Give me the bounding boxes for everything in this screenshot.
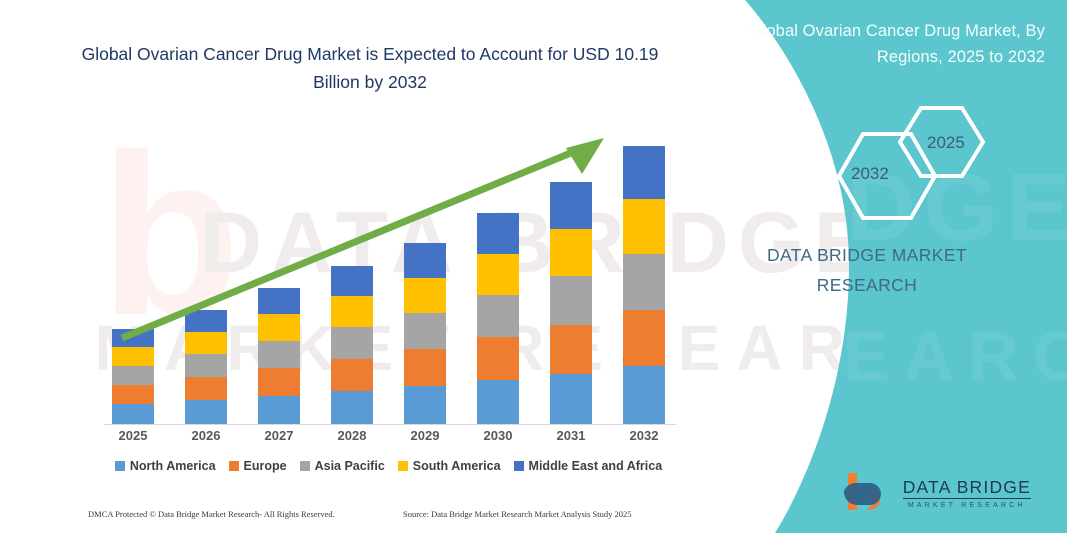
x-axis-label-2030: 2030 [468,428,528,443]
brand-line-2: RESEARCH [667,270,1067,300]
logo-subtitle: MARKET RESEARCH [903,502,1031,509]
legend-label: South America [413,459,501,473]
panel-title: Global Ovarian Cancer Drug Market, By Re… [715,18,1045,70]
legend-item-europe[interactable]: Europe [229,459,287,473]
brand-name: DATA BRIDGE MARKET RESEARCH [667,240,1067,300]
x-axis-label-2032: 2032 [614,428,674,443]
legend-item-south-america[interactable]: South America [398,459,501,473]
legend-item-middle-east-and-africa[interactable]: Middle East and Africa [514,459,663,473]
legend-swatch-icon [115,461,125,471]
logo-mark-icon [842,471,894,517]
hexagon-2025-label: 2025 [927,133,965,153]
company-logo: DATA BRIDGE MARKET RESEARCH [842,471,1031,517]
hexagon-icons [821,104,1001,224]
logo-title: DATA BRIDGE [903,479,1031,500]
legend-item-north-america[interactable]: North America [115,459,216,473]
x-axis-label-2025: 2025 [103,428,163,443]
hexagon-2032-label: 2032 [851,164,889,184]
svg-text:RESEARCH: RESEARCH [667,317,1067,395]
x-axis-label-2028: 2028 [322,428,382,443]
x-axis-label-2029: 2029 [395,428,455,443]
footer-copyright: DMCA Protected © Data Bridge Market Rese… [88,509,335,519]
logo-text: DATA BRIDGE MARKET RESEARCH [903,479,1031,510]
legend-swatch-icon [514,461,524,471]
x-axis-labels: 20252026202720282029203020312032 [96,428,681,448]
hexagon-group: 2025 2032 [821,104,1001,224]
bar-chart [96,120,681,425]
legend-label: Europe [244,459,287,473]
bridge-b-icon [842,471,894,517]
x-axis-label-2031: 2031 [541,428,601,443]
footer: DMCA Protected © Data Bridge Market Rese… [0,509,700,529]
legend-swatch-icon [229,461,239,471]
legend-swatch-icon [300,461,310,471]
chart-legend: North AmericaEuropeAsia PacificSouth Ame… [96,459,681,473]
legend-label: Asia Pacific [315,459,385,473]
legend-swatch-icon [398,461,408,471]
footer-source: Source: Data Bridge Market Research Mark… [403,509,632,519]
brand-panel: BRIDGE RESEARCH Global Ovarian Cancer Dr… [667,0,1067,533]
page-title: Global Ovarian Cancer Drug Market is Exp… [70,40,670,96]
brand-line-1: DATA BRIDGE MARKET [667,240,1067,270]
x-axis-label-2027: 2027 [249,428,309,443]
legend-label: North America [130,459,216,473]
infographic-root: b DATA BRIDGE MARKET RESEARCH Global Ova… [0,0,1067,533]
x-axis-label-2026: 2026 [176,428,236,443]
legend-item-asia-pacific[interactable]: Asia Pacific [300,459,385,473]
growth-arrow-icon [96,120,681,425]
legend-label: Middle East and Africa [529,459,663,473]
